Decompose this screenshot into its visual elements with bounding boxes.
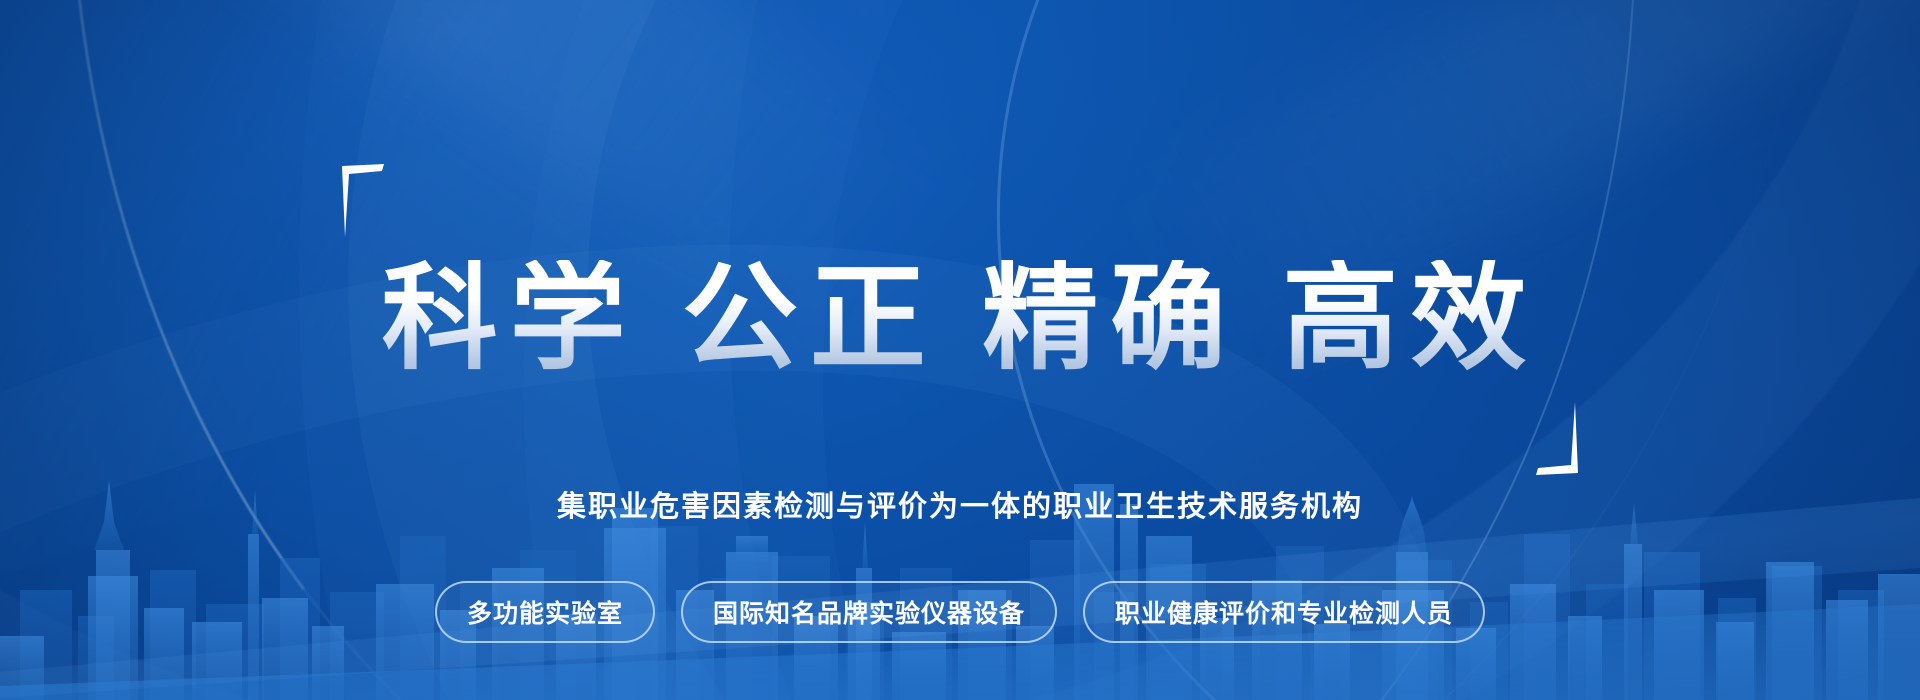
feature-pill-equipment[interactable]: 国际知名品牌实验仪器设备 xyxy=(681,581,1057,643)
page-title: 科学 公正 精确 高效 xyxy=(356,260,1565,376)
bracket-right-icon xyxy=(1536,401,1578,475)
bracket-left-icon xyxy=(342,164,384,238)
feature-pill-staff[interactable]: 职业健康评价和专业检测人员 xyxy=(1083,581,1485,643)
banner-content: 科学 公正 精确 高效 集职业危害因素检测与评价为一体的职业卫生技术服务机构 多… xyxy=(0,0,1920,700)
headline-row: 科学 公正 精确 高效 xyxy=(356,182,1565,453)
promo-banner: 科学 公正 精确 高效 集职业危害因素检测与评价为一体的职业卫生技术服务机构 多… xyxy=(0,0,1920,700)
page-subtitle: 集职业危害因素检测与评价为一体的职业卫生技术服务机构 xyxy=(557,483,1363,525)
feature-pill-list: 多功能实验室 国际知名品牌实验仪器设备 职业健康评价和专业检测人员 xyxy=(435,581,1485,643)
feature-pill-lab[interactable]: 多功能实验室 xyxy=(435,581,655,643)
